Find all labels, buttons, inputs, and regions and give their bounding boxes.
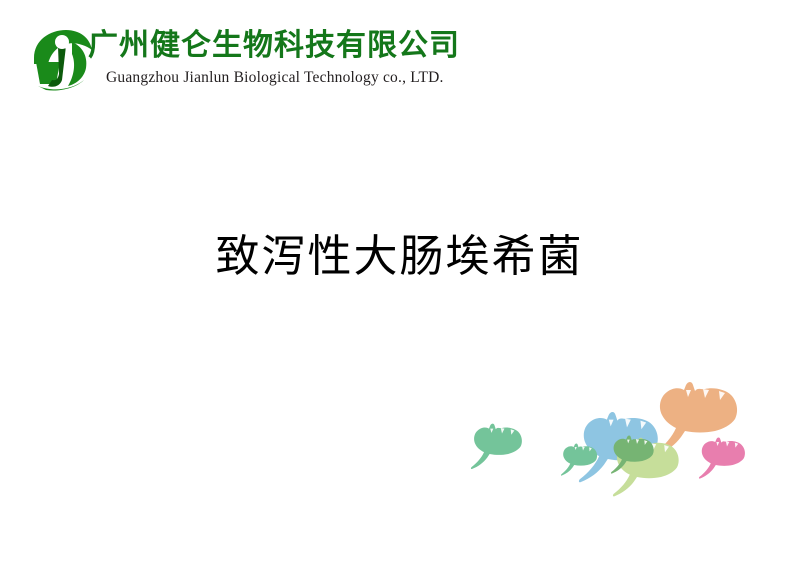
leaf-green-left	[471, 424, 522, 469]
company-name-en: Guangzhou Jianlun Biological Technology …	[106, 67, 458, 89]
slide-title-block: 致泻性大肠埃希菌	[0, 228, 799, 286]
presentation-slide: 广州健仑生物科技有限公司 Guangzhou Jianlun Biologica…	[0, 0, 799, 565]
company-branding: 广州健仑生物科技有限公司 Guangzhou Jianlun Biologica…	[26, 26, 446, 102]
ginkgo-leaf-cluster	[455, 375, 775, 505]
company-name-block: 广州健仑生物科技有限公司 Guangzhou Jianlun Biologica…	[88, 26, 458, 89]
leaf-pink	[699, 438, 745, 479]
page-title: 致泻性大肠埃希菌	[216, 228, 584, 286]
company-name-cn: 广州健仑生物科技有限公司	[88, 26, 458, 66]
